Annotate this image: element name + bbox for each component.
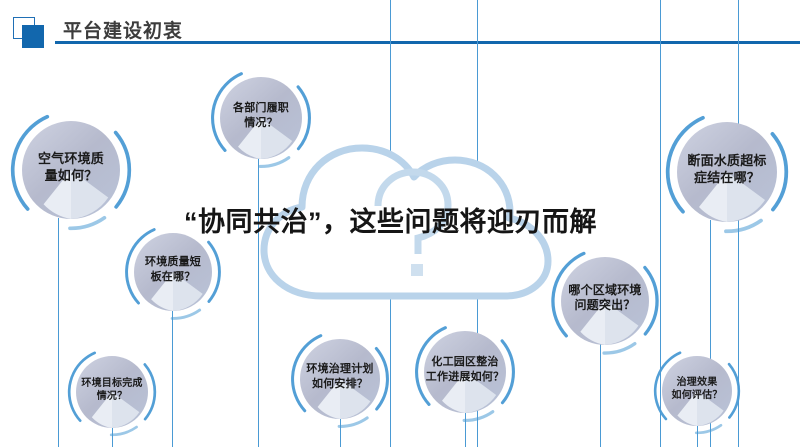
bubble-region-problem[interactable]: 哪个区域环境问题突出？ [548, 244, 662, 358]
bubble-disc [424, 331, 506, 413]
bubble-chemical-park[interactable]: 化工园区整治工作进展如何？ [412, 319, 518, 425]
slide-canvas: 平台建设初衷 空气环境质量如何？各部门履职情况？断面水质超标症结在哪？环境质量短… [0, 0, 800, 447]
bubble-env-target[interactable]: 环境目标完成情况？ [65, 345, 159, 439]
bubble-disc [677, 122, 777, 222]
headline-text: “协同共治”，这些问题将迎刃而解 [184, 200, 654, 239]
bubble-wedge [662, 356, 732, 426]
bubble-disc [561, 257, 649, 345]
connector-air-quality [58, 218, 59, 447]
bubble-wedge [300, 339, 380, 419]
bubble-wedge [22, 121, 120, 219]
bubble-wedge [424, 331, 506, 413]
bubble-disc [76, 356, 148, 428]
bubble-wedge [220, 77, 302, 159]
page-title: 平台建设初衷 [63, 16, 183, 43]
bubble-treatment-plan[interactable]: 环境治理计划如何安排？ [288, 327, 392, 431]
bubble-wedge [134, 233, 212, 311]
bubble-wedge [677, 122, 777, 222]
square-filled-icon [22, 25, 44, 48]
bubble-department-duty[interactable]: 各部门履职情况？ [208, 65, 314, 171]
bubble-disc [22, 121, 120, 219]
header-icon-group [13, 17, 53, 49]
bubble-wedge [561, 257, 649, 345]
bubble-disc [220, 77, 302, 159]
bubble-effect-evaluation[interactable]: 治理效果如何评估？ [651, 345, 743, 437]
bubble-water-quality[interactable]: 断面水质超标症结在哪？ [662, 107, 792, 237]
header-divider [55, 41, 800, 44]
connector-quality-shortboard [172, 310, 173, 447]
bubble-disc [134, 233, 212, 311]
bubble-disc [662, 356, 732, 426]
connector-region-problem [600, 344, 601, 447]
bubble-disc [300, 339, 380, 419]
bubble-air-quality[interactable]: 空气环境质量如何？ [7, 106, 135, 234]
bubble-wedge [76, 356, 148, 428]
